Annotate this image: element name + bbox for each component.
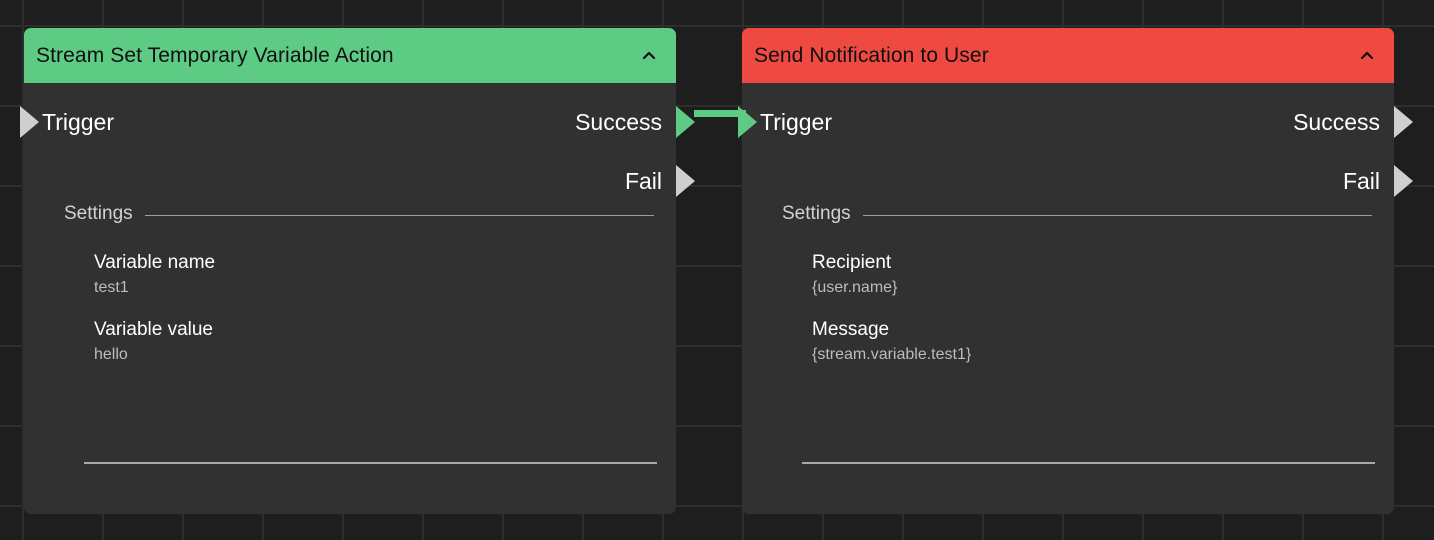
field-variable-name[interactable]: Variable name test1 (94, 252, 676, 297)
node-title: Send Notification to User (754, 44, 989, 68)
field-label: Message (812, 319, 1394, 341)
field-label: Recipient (812, 252, 1394, 274)
field-value[interactable]: {stream.variable.test1} (812, 346, 1394, 364)
node-title: Stream Set Temporary Variable Action (36, 44, 394, 68)
node-stream-set-temporary-variable-action[interactable]: Stream Set Temporary Variable Action Tri… (24, 28, 676, 514)
chevron-up-icon[interactable] (1356, 45, 1378, 67)
node-header[interactable]: Stream Set Temporary Variable Action (24, 28, 676, 83)
output-port-fail[interactable] (1394, 165, 1413, 197)
field-value[interactable]: {user.name} (812, 279, 1394, 297)
node-header[interactable]: Send Notification to User (742, 28, 1394, 83)
node-send-notification-to-user[interactable]: Send Notification to User Trigger Succes… (742, 28, 1394, 514)
settings-fields: Recipient {user.name} Message {stream.va… (742, 225, 1394, 364)
output-port-label-fail: Fail (625, 168, 662, 195)
port-row-fail: Fail (24, 152, 676, 210)
node-ports: Trigger Success Fail (742, 83, 1394, 201)
field-label: Variable name (94, 252, 676, 274)
field-label: Variable value (94, 319, 676, 341)
settings-fields: Variable name test1 Variable value hello (24, 225, 676, 364)
settings-divider (145, 215, 654, 216)
port-row-success: Success (24, 93, 676, 151)
node-footer-divider (84, 462, 657, 464)
field-value[interactable]: test1 (94, 279, 676, 297)
output-port-success[interactable] (1394, 106, 1413, 138)
output-port-label-success: Success (1293, 109, 1380, 136)
output-port-label-success: Success (575, 109, 662, 136)
output-port-success[interactable] (676, 106, 695, 138)
node-footer-divider (802, 462, 1375, 464)
settings-divider (863, 215, 1372, 216)
field-message[interactable]: Message {stream.variable.test1} (812, 319, 1394, 364)
chevron-up-icon[interactable] (638, 45, 660, 67)
field-value[interactable]: hello (94, 346, 676, 364)
port-row-success: Success (742, 93, 1394, 151)
field-variable-value[interactable]: Variable value hello (94, 319, 676, 364)
port-row-fail: Fail (742, 152, 1394, 210)
output-port-fail[interactable] (676, 165, 695, 197)
node-ports: Trigger Success Fail (24, 83, 676, 201)
field-recipient[interactable]: Recipient {user.name} (812, 252, 1394, 297)
connection-edge-success-to-trigger[interactable] (694, 110, 746, 117)
output-port-label-fail: Fail (1343, 168, 1380, 195)
